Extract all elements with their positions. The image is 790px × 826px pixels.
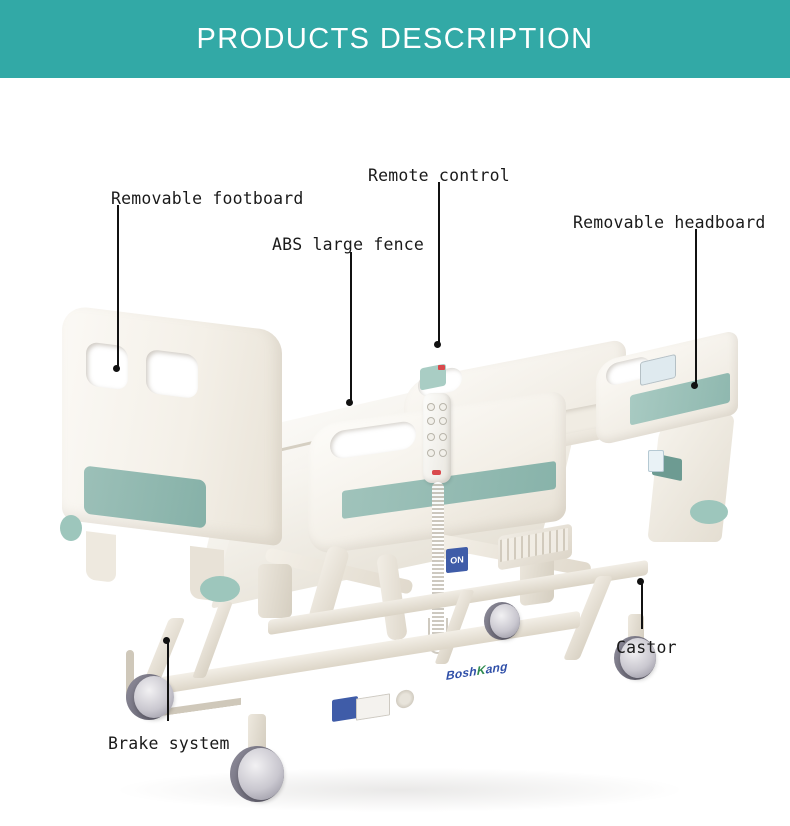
footboard-bumper-left (60, 515, 82, 541)
remote-button-4[interactable] (439, 417, 447, 425)
lift-column-left (258, 564, 292, 618)
headboard-bumper (690, 500, 728, 524)
callout-label-remote-control: Remote control (368, 168, 510, 185)
remote-button-5[interactable] (427, 433, 435, 441)
remote-button-7[interactable] (427, 449, 435, 457)
callout-dot-removable-footboard (113, 365, 120, 372)
abs-fence-rear-indicator-icon (438, 365, 445, 370)
callout-label-brake-system: Brake system (108, 736, 230, 753)
callout-dot-remote-control (434, 341, 441, 348)
castor-rear-left (490, 604, 520, 638)
callout-label-abs-large-fence: ABS large fence (272, 237, 424, 254)
product-description-page: PRODUCTS DESCRIPTION (0, 0, 790, 826)
callout-dot-castor (637, 578, 644, 585)
page-title: PRODUCTS DESCRIPTION (0, 0, 790, 78)
round-emblem-icon (396, 689, 414, 710)
callout-label-removable-headboard: Removable headboard (573, 215, 766, 232)
specification-sticker (356, 693, 390, 720)
footboard-handle-right (146, 349, 198, 399)
remote-button-2[interactable] (439, 403, 447, 411)
remote-button-8[interactable] (439, 449, 447, 457)
power-on-label: ON (446, 547, 468, 573)
footboard-handle-left (86, 341, 128, 390)
callout-dot-abs-large-fence (346, 399, 353, 406)
remote-button-6[interactable] (439, 433, 447, 441)
callout-leader-remote-control (438, 182, 440, 344)
callout-leader-brake-system (167, 641, 169, 721)
headboard-post (647, 414, 734, 542)
footboard-bumper-right (200, 576, 240, 602)
footboard-leg-left (86, 531, 116, 583)
callout-leader-removable-headboard (695, 229, 697, 385)
callout-label-castor: Castor (616, 640, 677, 657)
callout-label-removable-footboard: Removable footboard (111, 191, 304, 208)
brand-logo: BoshKang (446, 659, 508, 683)
callout-dot-removable-headboard (691, 382, 698, 389)
brand-logo-text: BoshKang (446, 659, 508, 683)
remote-indicator-icon (432, 470, 441, 475)
castor-front-right (238, 748, 284, 800)
callout-dot-brake-system (163, 637, 170, 644)
callout-leader-castor (641, 583, 643, 629)
callout-leader-removable-footboard (117, 205, 119, 368)
remote-button-1[interactable] (427, 403, 435, 411)
headboard-label-tag (648, 450, 664, 472)
callout-leader-abs-large-fence (350, 252, 352, 402)
remote-button-3[interactable] (427, 417, 435, 425)
certification-sticker (332, 696, 358, 722)
ground-shadow (120, 768, 680, 812)
